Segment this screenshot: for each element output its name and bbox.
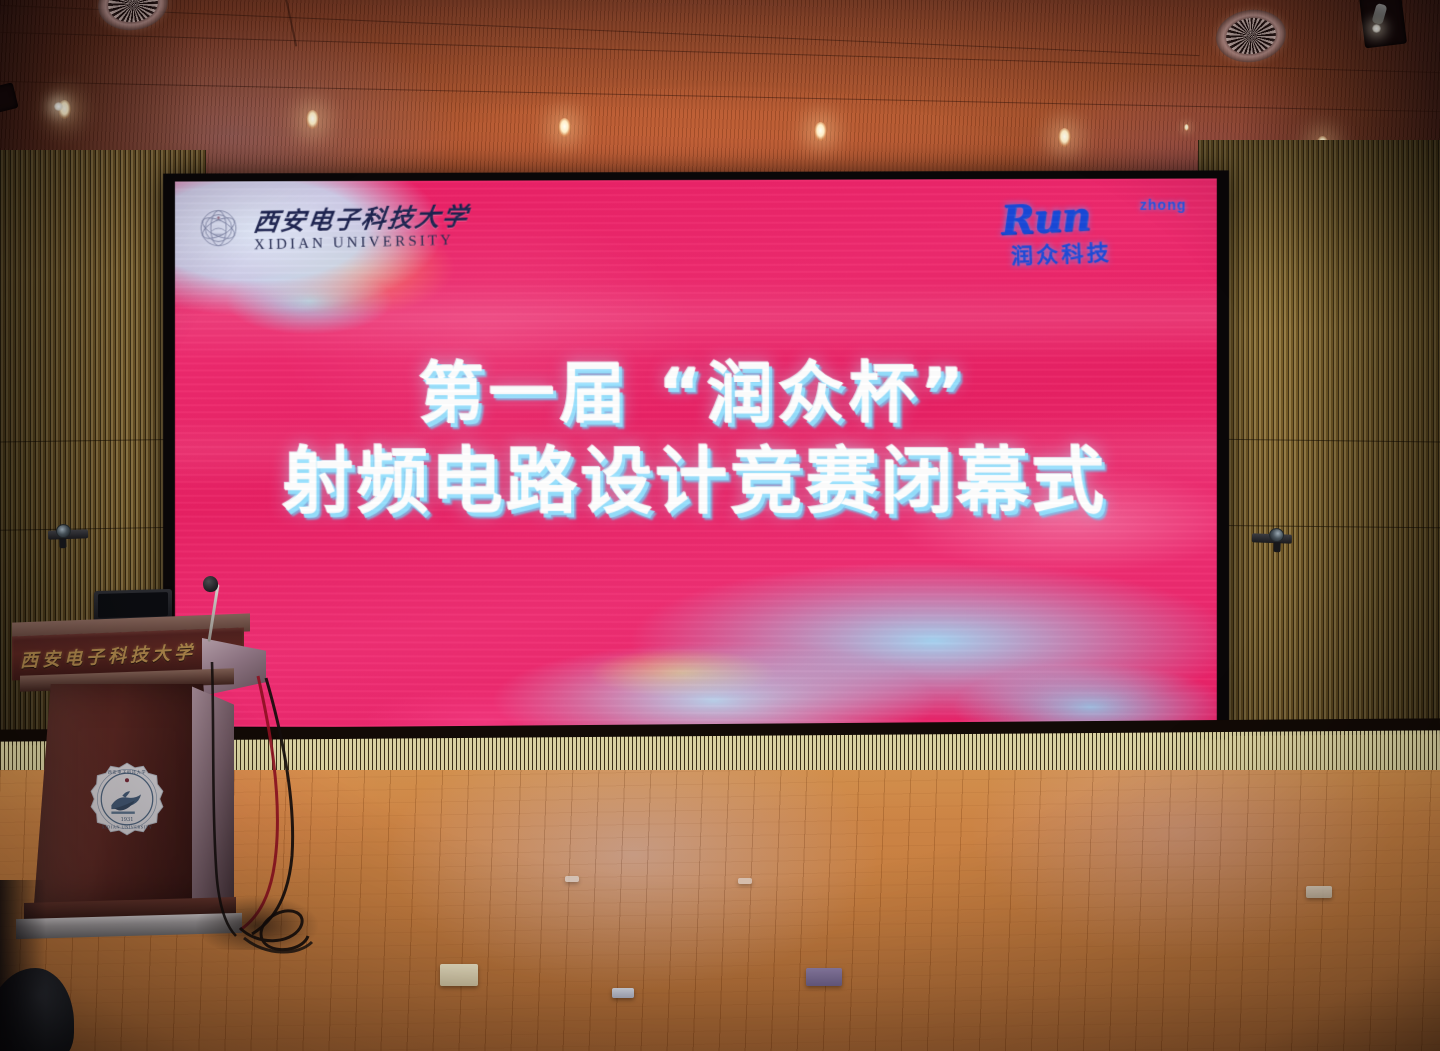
recessed-downlight [306,110,319,129]
banner-title-line1: 第一届 “润众杯” [175,357,1217,429]
sponsor-logo: Run zhong 润众科技 [1001,193,1193,266]
track-spotlight [54,102,63,111]
university-name-block: 西安电子科技大学 XIDIAN UNIVERSITY [254,207,468,251]
university-logo: 西安电子科技大学 XIDIAN UNIVERSITY [193,193,491,263]
xidian-university-seal-icon [193,202,244,254]
floor-marker [565,876,579,882]
floor-outlet-panel [1306,886,1332,898]
recessed-downlight [814,122,827,141]
svg-text:西安电子科技大学: 西安电子科技大学 [108,768,147,774]
university-name-cn: 西安电子科技大学 [252,204,471,235]
left-edge-shadow [0,880,46,1051]
wall-mounted-ptz-camera [48,523,89,540]
sponsor-name-cn: 润众科技 [1010,235,1112,271]
track-spotlight [1372,24,1381,33]
recessed-downlight [1058,128,1071,147]
recessed-downlight [1184,124,1189,131]
wall-shading [1198,140,1440,780]
floor-outlet-panel [806,968,842,986]
svg-text:XIDIAN UNIVERSITY: XIDIAN UNIVERSITY [102,825,153,830]
floor-outlet-panel [612,988,634,998]
floor-marker [738,878,752,884]
sponsor-superscript: zhong [1140,197,1187,213]
podium-column-right [192,682,234,908]
wall-mounted-ptz-camera [1252,527,1293,544]
floor-outlet-panel [440,964,478,986]
led-screen-display: 西安电子科技大学 XIDIAN UNIVERSITY Run zhong 润众科… [175,178,1217,729]
recessed-downlight [558,118,571,137]
banner-title-line2: 射频电路设计竞赛闭幕式 [175,443,1217,521]
banner-title: 第一届 “润众杯” 射频电路设计竞赛闭幕式 [175,357,1217,521]
svg-text:1931: 1931 [121,817,134,823]
camera-mount [1273,542,1280,552]
cable-pile-shadow [196,896,318,950]
camera-mount [59,538,66,548]
right-wall-panel [1198,140,1440,780]
auditorium-scene: 西安电子科技大学 XIDIAN UNIVERSITY Run zhong 润众科… [0,0,1440,1051]
xidian-university-emblem-icon: 1931 XIDIAN UNIVERSITY 西安电子科技大学 [88,760,166,838]
university-name-en: XIDIAN UNIVERSITY [254,233,469,253]
led-screen-bezel: 西安电子科技大学 XIDIAN UNIVERSITY Run zhong 润众科… [163,170,1229,739]
